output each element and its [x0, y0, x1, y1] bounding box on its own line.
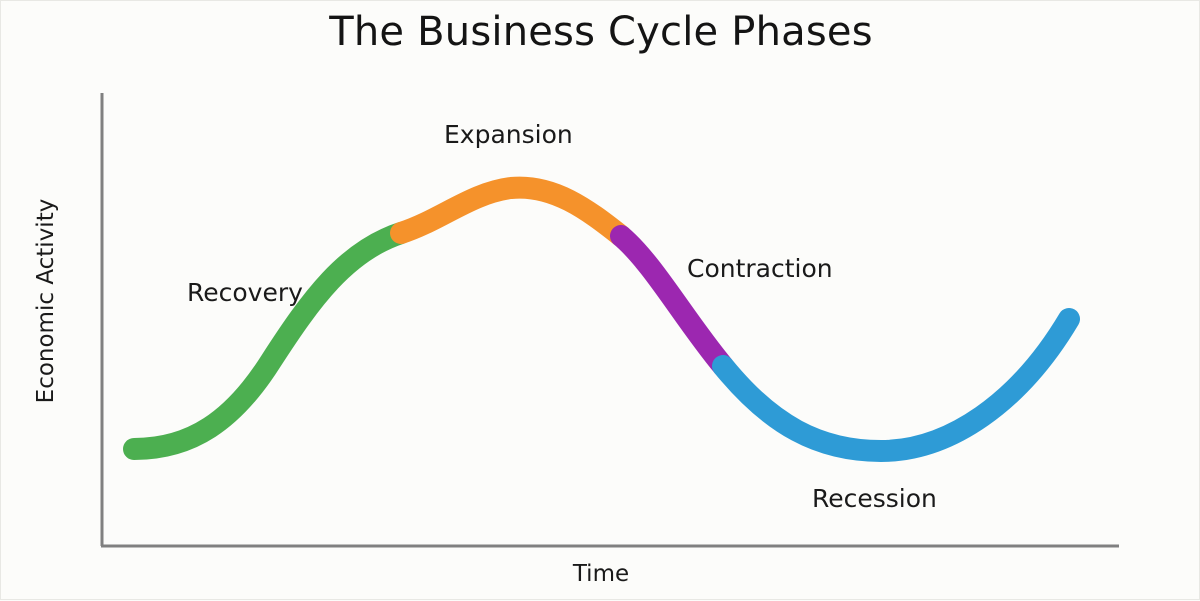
business-cycle-figure: The Business Cycle Phases Economic Activ…: [0, 0, 1200, 600]
curve-segment-expansion: [401, 188, 621, 236]
y-axis-label-container: Economic Activity: [1, 1, 91, 601]
curve-segment-recovery: [134, 233, 401, 449]
page-title: The Business Cycle Phases: [1, 9, 1200, 55]
phase-label-recovery: Recovery: [187, 278, 303, 307]
curve-segment-recession: [723, 319, 1069, 451]
phase-label-recession: Recession: [812, 484, 937, 513]
y-axis-label: Economic Activity: [33, 199, 59, 404]
phase-label-expansion: Expansion: [444, 120, 573, 149]
business-cycle-chart: [1, 1, 1200, 601]
phase-label-contraction: Contraction: [687, 254, 833, 283]
x-axis-label: Time: [1, 561, 1200, 587]
